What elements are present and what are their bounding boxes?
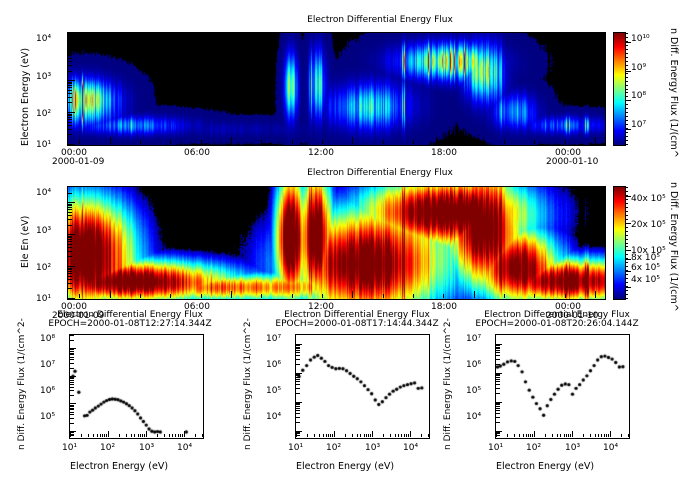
spectrogram-mid-canvas xyxy=(68,187,605,299)
spectrogram-top-xtick-2: 12:00 xyxy=(308,148,334,158)
spectrum-2-xlabel: Electron Energy (eV) xyxy=(296,461,394,472)
spectrogram-top-ytick-2: 10³ xyxy=(36,72,51,82)
colorbar-mid-tick-2: 8x 10⁵ xyxy=(631,253,660,263)
spectrogram-top-xsub-4: 2000-01-10 xyxy=(546,157,598,167)
spectrum-3-xtick-2: 10³ xyxy=(565,443,580,453)
spectrogram-top-xsub-0: 2000-01-09 xyxy=(52,157,104,167)
spectrum-2-ytick-2: 10⁶ xyxy=(266,360,281,370)
colorbar-top-tick-0: 10⁷ xyxy=(631,120,646,130)
spectrum-3-plot-area xyxy=(495,334,630,439)
spectrum-2-subtitle: EPOCH=2000-01-08T17:14:44.344Z xyxy=(252,319,462,330)
spectrogram-mid-ytick-1: 10² xyxy=(36,263,51,273)
spectrogram-mid-ytick-2: 10³ xyxy=(36,226,51,236)
colorbar-top-tick-2: 10⁹ xyxy=(631,63,646,73)
colorbar-mid-label: n Diff. Energy Flux (1/(cm^ xyxy=(668,182,679,312)
spectrum-2-canvas xyxy=(296,335,429,438)
spectrogram-top-ylabel: Electron Energy (eV) xyxy=(20,48,31,146)
spectrogram-top-colorbar xyxy=(613,32,626,146)
spectrogram-mid-ylabel: Ele En (eV) xyxy=(20,216,31,268)
spectrum-1-ytick-3: 10⁸ xyxy=(40,334,55,344)
spectrum-2-ytick-1: 10⁵ xyxy=(266,386,281,396)
spectrum-1-ytick-0: 10⁵ xyxy=(40,412,55,422)
spectrum-1-canvas xyxy=(70,335,203,438)
spectrum-2-ylabel: n Diff. Energy Flux (1/(cm^2- xyxy=(243,318,253,450)
spectrum-1-plot-area xyxy=(69,334,204,439)
spectrogram-top-xtick-3: 18:00 xyxy=(431,148,457,158)
spectrum-1-xlabel: Electron Energy (eV) xyxy=(70,461,168,472)
spectrum-2-xtick-2: 10³ xyxy=(365,443,380,453)
spectrum-3-canvas xyxy=(496,335,629,438)
spectrogram-top-canvas xyxy=(68,33,605,145)
spectrum-3-xtick-1: 10² xyxy=(526,443,541,453)
spectrogram-mid-colorbar xyxy=(613,186,626,300)
spectrum-3-ytick-2: 10⁶ xyxy=(466,360,481,370)
spectrogram-top-title: Electron Differential Energy Flux xyxy=(152,15,608,26)
spectrum-1-xtick-0: 10¹ xyxy=(62,443,77,453)
spectrum-3-xlabel: Electron Energy (eV) xyxy=(496,461,594,472)
colorbar-mid-tick-5: 40x 10⁵ xyxy=(631,194,666,204)
spectrum-1-ylabel: n Diff. Energy Flux (1/(cm^2- xyxy=(17,318,27,450)
colorbar-top-tick-3: 10¹⁰ xyxy=(631,34,650,44)
colorbar-top-label: n Diff. Energy Flux (1/(cm^ xyxy=(668,28,679,158)
spectrogram-mid-title: Electron Differential Energy Flux xyxy=(152,168,608,179)
spectrum-1-xtick-3: 10⁴ xyxy=(177,443,192,453)
spectrogram-mid-ytick-0: 10¹ xyxy=(36,294,51,304)
spectrum-3-xtick-0: 10¹ xyxy=(488,443,503,453)
spectrum-3-subtitle: EPOCH=2000-01-08T20:26:04.144Z xyxy=(452,319,662,330)
colorbar-mid-canvas xyxy=(614,187,625,299)
spectrum-1-xtick-2: 10³ xyxy=(139,443,154,453)
spectrum-3-xtick-3: 10⁴ xyxy=(603,443,618,453)
spectrum-2-plot-area xyxy=(295,334,430,439)
spectrogram-mid-plot-area xyxy=(67,186,606,300)
spectrogram-top-plot-area xyxy=(67,32,606,146)
spectrogram-top-xtick-1: 06:00 xyxy=(184,148,210,158)
colorbar-mid-tick-4: 20x 10⁵ xyxy=(631,220,666,230)
colorbar-top-tick-1: 10⁸ xyxy=(631,91,646,101)
spectrum-1-subtitle: EPOCH=2000-01-08T12:27:14.344Z xyxy=(25,319,235,330)
spectrum-2-ytick-0: 10⁴ xyxy=(266,412,281,422)
colorbar-mid-tick-0: 4x 10⁵ xyxy=(631,275,660,285)
colorbar-mid-tick-1: 6x 10⁵ xyxy=(631,263,660,273)
spectrogram-top-ytick-1: 10² xyxy=(36,109,51,119)
colorbar-top-canvas xyxy=(614,33,625,145)
spectrogram-mid-ytick-3: 10⁴ xyxy=(36,188,51,198)
spectrum-1-ytick-1: 10⁶ xyxy=(40,386,55,396)
spectrum-2-xtick-1: 10² xyxy=(326,443,341,453)
spectrum-3-ytick-0: 10⁴ xyxy=(466,412,481,422)
spectrogram-top-ytick-3: 10⁴ xyxy=(36,34,51,44)
spectrogram-top-ytick-0: 10¹ xyxy=(36,140,51,150)
spectrum-1-xtick-1: 10² xyxy=(100,443,115,453)
spectrum-2-xtick-0: 10¹ xyxy=(288,443,303,453)
spectrum-3-ytick-1: 10⁵ xyxy=(466,386,481,396)
spectrum-1-ytick-2: 10⁷ xyxy=(40,360,55,370)
spectrum-2-ytick-3: 10⁷ xyxy=(266,334,281,344)
spectrum-2-xtick-3: 10⁴ xyxy=(403,443,418,453)
spectrum-3-ytick-3: 10⁷ xyxy=(466,334,481,344)
spectrum-3-ylabel: n Diff. Energy Flux (1/(cm^2- xyxy=(443,318,453,450)
